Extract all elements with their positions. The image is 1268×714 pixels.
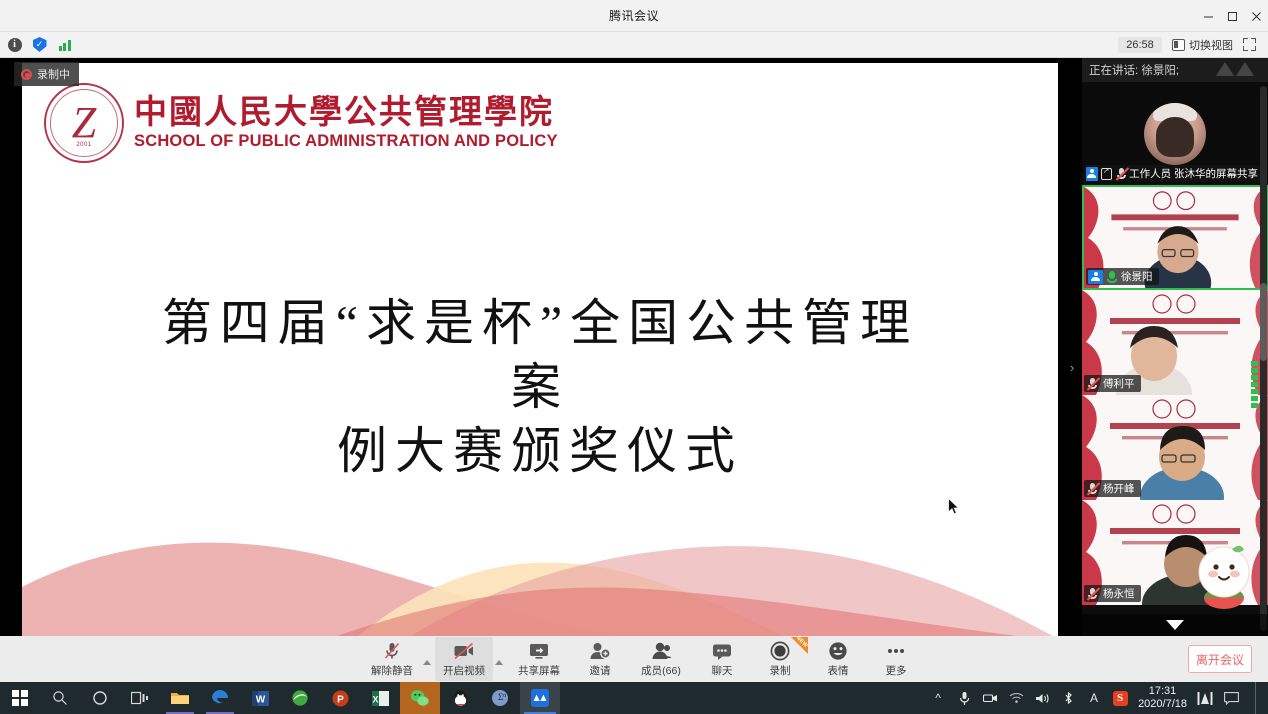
minimize-button[interactable] <box>1196 0 1220 32</box>
tile-label: 工作人员 张沐华的屏幕共享 <box>1084 165 1264 182</box>
tile-label: 杨永恒 <box>1084 585 1141 602</box>
clock-time: 17:31 <box>1138 685 1187 698</box>
windows-taskbar: W P X <box>0 682 1268 714</box>
tile-participant-1[interactable]: 傅利平 <box>1082 290 1268 395</box>
ie-browser-icon[interactable] <box>280 682 320 714</box>
control-label: 共享屏幕 <box>518 663 560 678</box>
tray-device-icon[interactable] <box>982 690 998 706</box>
mic-muted-icon <box>1115 167 1126 181</box>
mic-active-icon <box>1106 270 1118 284</box>
svg-text:X: X <box>372 694 378 704</box>
switch-view-label: 切换视图 <box>1189 37 1233 53</box>
svg-text:P: P <box>337 694 344 705</box>
participants-icon <box>650 641 672 661</box>
emoji-icon <box>828 641 848 661</box>
mouse-cursor <box>948 498 960 516</box>
mic-muted-icon <box>1086 587 1100 601</box>
tray-chevron-icon[interactable]: ^ <box>930 690 946 706</box>
scroll-down-triangle-icon <box>1166 620 1184 630</box>
recording-label: 录制中 <box>37 66 70 82</box>
tile-label: 傅利平 <box>1084 375 1141 392</box>
seal-emblem-icon: Z 2001 <box>44 83 124 163</box>
control-label: 更多 <box>886 663 907 678</box>
tencent-meeting-window: 腾讯会议 i ✓ 26:58 <box>0 0 1268 714</box>
watermark-icon <box>1214 60 1258 78</box>
fullscreen-icon[interactable] <box>1243 38 1256 51</box>
mic-muted-icon <box>382 641 402 661</box>
wechat-icon[interactable] <box>400 682 440 714</box>
presentation-slide: Z 2001 中國人民大學公共管理學院 SCHOOL OF PUBLIC ADM… <box>22 63 1058 641</box>
clock[interactable]: 17:31 2020/7/18 <box>1138 685 1187 710</box>
switch-view-button[interactable]: 切换视图 <box>1172 37 1233 53</box>
tile-screen-share[interactable]: 工作人员 张沐华的屏幕共享 <box>1082 82 1268 185</box>
tray-language-icon[interactable]: A <box>1086 690 1102 706</box>
logo-chinese-name: 中國人民大學公共管理學院 <box>134 95 558 132</box>
control-label: 聊天 <box>712 663 733 678</box>
control-start-video[interactable]: 开启视频 <box>435 637 493 681</box>
audio-level-meter <box>1251 346 1258 408</box>
meeting-subtoolbar: i ✓ 26:58 切换视图 <box>0 32 1268 58</box>
search-icon[interactable] <box>40 682 80 714</box>
control-label: 解除静音 <box>371 663 413 678</box>
network-signal-icon[interactable] <box>56 36 73 53</box>
task-view-icon[interactable] <box>120 682 160 714</box>
record-icon <box>770 641 790 661</box>
leave-meeting-button[interactable]: 离开会议 <box>1188 645 1252 673</box>
control-label: 表情 <box>828 663 849 678</box>
new-badge-label: NEW <box>795 635 809 649</box>
sogou-letter: S <box>1113 691 1128 706</box>
tencent-meeting-icon[interactable] <box>520 682 560 714</box>
new-badge: NEW <box>791 637 808 654</box>
system-tray: ^ A S 17:31 2020/7/18 <box>930 682 1268 714</box>
mic-options-caret-icon[interactable] <box>423 660 431 665</box>
tile-name: 工作人员 张沐华的屏幕共享 <box>1129 166 1258 181</box>
tile-name: 杨开峰 <box>1103 481 1135 496</box>
close-button[interactable] <box>1244 0 1268 32</box>
action-center-icon[interactable] <box>1223 690 1239 706</box>
cartoon-sticker-icon <box>1188 538 1260 610</box>
tray-app-icon[interactable] <box>1197 690 1213 706</box>
screen-share-icon <box>528 641 550 661</box>
powerpoint-icon[interactable]: P <box>320 682 360 714</box>
tray-volume-icon[interactable] <box>1034 690 1050 706</box>
seal-year: 2001 <box>46 142 122 148</box>
control-invite[interactable]: 邀请 <box>571 637 629 681</box>
recording-indicator: 录制中 <box>14 62 79 86</box>
camera-off-icon <box>453 641 475 661</box>
control-label: 邀请 <box>590 663 611 678</box>
qq-icon[interactable] <box>440 682 480 714</box>
scroll-down-arrow[interactable] <box>1082 614 1268 636</box>
record-dot-icon <box>21 69 32 80</box>
clock-date: 2020/7/18 <box>1138 698 1187 711</box>
tile-name: 傅利平 <box>1103 376 1135 391</box>
tile-name: 徐景阳 <box>1121 269 1153 284</box>
meeting-control-bar: 解除静音 开启视频 <box>0 636 1268 682</box>
sogou-ime-icon[interactable]: S <box>1112 690 1128 706</box>
control-share-screen[interactable]: 共享屏幕 <box>507 637 571 681</box>
chat-bubble-icon <box>711 641 733 661</box>
show-desktop-button[interactable] <box>1255 682 1260 714</box>
tray-mic-icon[interactable] <box>956 690 972 706</box>
collapse-panel-chevron-icon[interactable]: › <box>1064 350 1080 384</box>
shared-screen-stage: Z 2001 中國人民大學公共管理學院 SCHOOL OF PUBLIC ADM… <box>0 58 1082 636</box>
mic-muted-icon <box>1086 482 1100 496</box>
active-speaker-label: 正在讲话: 徐景阳; <box>1089 62 1179 78</box>
more-dots-icon <box>885 641 907 661</box>
slide-wave-decoration <box>22 521 1058 641</box>
subtoolbar-left-icons: i ✓ <box>6 36 73 53</box>
subtoolbar-right-group: 26:58 切换视图 <box>1118 37 1262 53</box>
panel-scrollbar-thumb[interactable] <box>1260 283 1267 361</box>
control-label: 成员(66) <box>641 663 681 678</box>
meeting-timer: 26:58 <box>1118 37 1162 53</box>
control-unmute[interactable]: 解除静音 <box>363 637 421 681</box>
logo-english-name: SCHOOL OF PUBLIC ADMINISTRATION AND POLI… <box>134 132 558 151</box>
control-emoji[interactable]: 表情 <box>809 637 867 681</box>
invite-user-icon <box>589 641 611 661</box>
tray-wifi-icon[interactable] <box>1008 690 1024 706</box>
mic-muted-icon <box>1086 377 1100 391</box>
cortana-icon[interactable] <box>80 682 120 714</box>
tile-participant-2[interactable]: 杨开峰 <box>1082 395 1268 500</box>
university-logo: Z 2001 中國人民大學公共管理學院 SCHOOL OF PUBLIC ADM… <box>44 83 558 163</box>
seal-glyph: Z <box>72 101 96 145</box>
participant-video-panel: 正在讲话: 徐景阳; 工作人员 张沐华的屏幕共享 <box>1082 58 1268 636</box>
slide-title-line-1: 第四届“求是杯”全国公共管理案 <box>142 291 938 419</box>
control-label: 录制 <box>770 663 791 678</box>
maximize-button[interactable] <box>1220 0 1244 32</box>
window-controls <box>1196 0 1268 32</box>
mathtype-icon[interactable]: Σ α <box>480 682 520 714</box>
control-record[interactable]: NEW 录制 <box>751 637 809 681</box>
avatar <box>1144 103 1206 165</box>
control-participants[interactable]: 成员(66) <box>629 637 693 681</box>
tray-bluetooth-icon[interactable] <box>1060 690 1076 706</box>
slide-title-line-2: 例大赛颁奖仪式 <box>142 419 938 483</box>
tile-name: 杨永恒 <box>1103 586 1135 601</box>
excel-icon[interactable]: X <box>360 682 400 714</box>
logo-text-block: 中國人民大學公共管理學院 SCHOOL OF PUBLIC ADMINISTRA… <box>134 95 558 152</box>
tile-participant-0[interactable]: 徐景阳 <box>1082 185 1268 290</box>
active-speaker-bar: 正在讲话: 徐景阳; <box>1082 58 1268 82</box>
slide-title: 第四届“求是杯”全国公共管理案 例大赛颁奖仪式 <box>22 291 1058 483</box>
window-title: 腾讯会议 <box>609 7 659 24</box>
edge-browser-icon[interactable] <box>200 682 240 714</box>
control-more[interactable]: 更多 <box>867 637 925 681</box>
control-items: 解除静音 开启视频 <box>343 637 925 681</box>
control-label: 开启视频 <box>443 663 485 678</box>
security-shield-icon[interactable]: ✓ <box>31 36 48 53</box>
tile-label: 徐景阳 <box>1086 268 1159 285</box>
control-chat[interactable]: 聊天 <box>693 637 751 681</box>
screen-share-icon <box>1101 168 1112 180</box>
video-options-caret-icon[interactable] <box>495 660 503 665</box>
host-badge-icon <box>1086 167 1098 181</box>
switch-view-icon <box>1172 39 1185 51</box>
window-titlebar: 腾讯会议 <box>0 0 1268 32</box>
svg-text:W: W <box>255 694 265 705</box>
start-button[interactable] <box>0 682 40 714</box>
info-icon[interactable]: i <box>6 36 23 53</box>
host-badge-icon <box>1088 270 1103 284</box>
word-icon[interactable]: W <box>240 682 280 714</box>
tile-label: 杨开峰 <box>1084 480 1141 497</box>
file-explorer-icon[interactable] <box>160 682 200 714</box>
